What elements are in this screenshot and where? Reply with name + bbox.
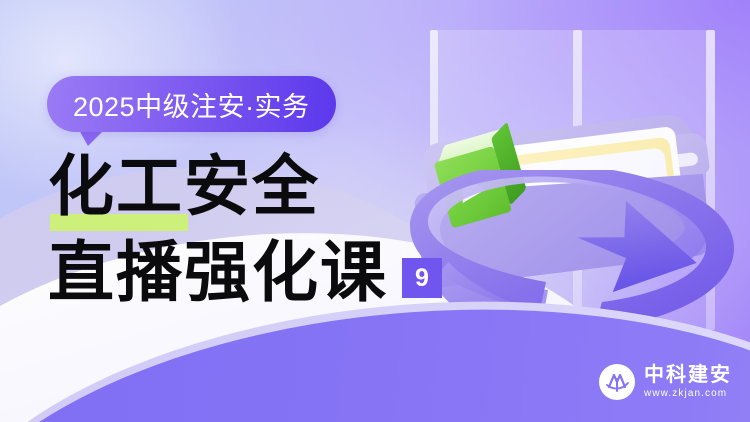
headline-group: 化工安全 直播强化课 9 bbox=[48, 150, 468, 312]
headline-row-1: 化工安全 bbox=[48, 150, 468, 226]
brand-logo: 中科建安 www.zkjan.com bbox=[599, 364, 732, 400]
episode-number-badge: 9 bbox=[402, 258, 442, 298]
zkjan-monogram-icon bbox=[599, 364, 635, 400]
headline-row-2: 直播强化课 9 bbox=[48, 236, 468, 312]
headline-line-2: 直播强化课 bbox=[48, 236, 388, 312]
course-category-badge: 2025中级注安·实务 bbox=[47, 76, 336, 132]
headline-line-1: 化工安全 bbox=[48, 150, 320, 226]
brand-url: www.zkjan.com bbox=[644, 388, 732, 399]
brand-name-cn: 中科建安 bbox=[644, 365, 732, 386]
logo-text-group: 中科建安 www.zkjan.com bbox=[644, 365, 732, 399]
episode-number-label: 9 bbox=[415, 264, 429, 293]
course-promo-banner: 2025中级注安·实务 化工安全 直播强化课 9 中科建安 www.zkjan.… bbox=[0, 0, 750, 422]
badge-label: 2025中级注安·实务 bbox=[73, 85, 310, 124]
